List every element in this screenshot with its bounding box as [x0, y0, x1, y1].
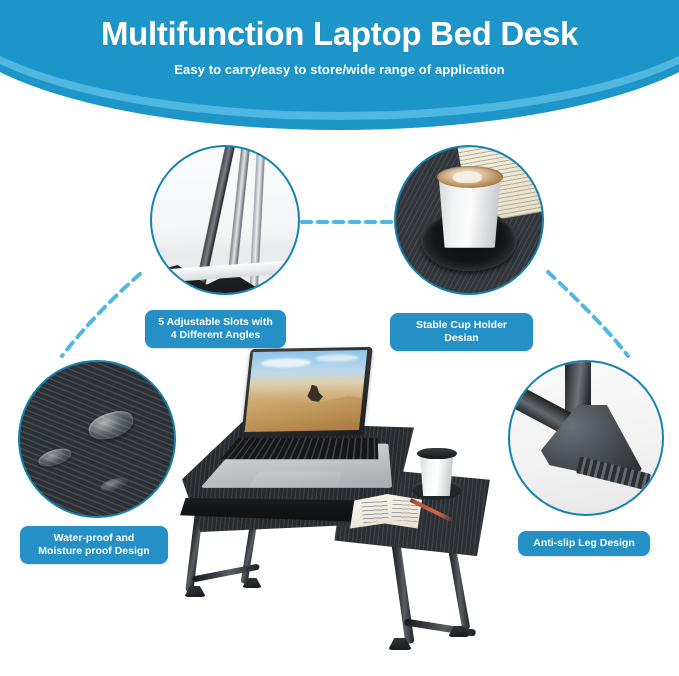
- water-droplet-large: [85, 407, 136, 443]
- feature-photo-cup-holder: [394, 145, 544, 295]
- screen-rider-silhouette: [305, 384, 325, 402]
- water-droplet-small: [99, 475, 129, 493]
- connector-right-diagonal: [548, 272, 628, 356]
- feature-photo-water-proof: [18, 360, 176, 518]
- label-water-proof: Water-proof and Moisture proof Design: [20, 526, 168, 564]
- page-title: Multifunction Laptop Bed Desk: [0, 12, 679, 56]
- water-droplet-medium: [37, 445, 74, 469]
- latte-art: [453, 171, 482, 183]
- label-cup-holder: Stable Cup Holder Desian: [390, 313, 533, 351]
- laptop-keyboard: [221, 438, 379, 459]
- screen-desert-dunes: [245, 388, 368, 432]
- product-hero-image: [176, 348, 492, 668]
- label-adjustable-slots: 5 Adjustable Slots with 4 Different Angl…: [145, 310, 286, 348]
- notebook-text-left: [361, 499, 389, 524]
- header-text-block: Multifunction Laptop Bed Desk Easy to ca…: [0, 0, 679, 77]
- laptop-screen: [245, 350, 368, 432]
- feature-photo-adjustable-slots: [150, 145, 300, 295]
- leg-right-front: [391, 536, 415, 644]
- label-anti-slip-leg: Anti-slip Leg Design: [518, 531, 650, 556]
- screen-cloud-right: [315, 354, 359, 362]
- page-subtitle: Easy to carry/easy to store/wide range o…: [0, 62, 679, 77]
- connector-left-diagonal: [62, 274, 140, 356]
- screen-cloud-left: [261, 358, 312, 368]
- desk-coffee-cup-lid: [417, 448, 457, 459]
- desk-coffee-cup: [419, 454, 454, 496]
- feature-photo-anti-slip-leg: [508, 360, 664, 516]
- infographic-page: Multifunction Laptop Bed Desk Easy to ca…: [0, 0, 679, 676]
- laptop-trackpad: [249, 472, 341, 487]
